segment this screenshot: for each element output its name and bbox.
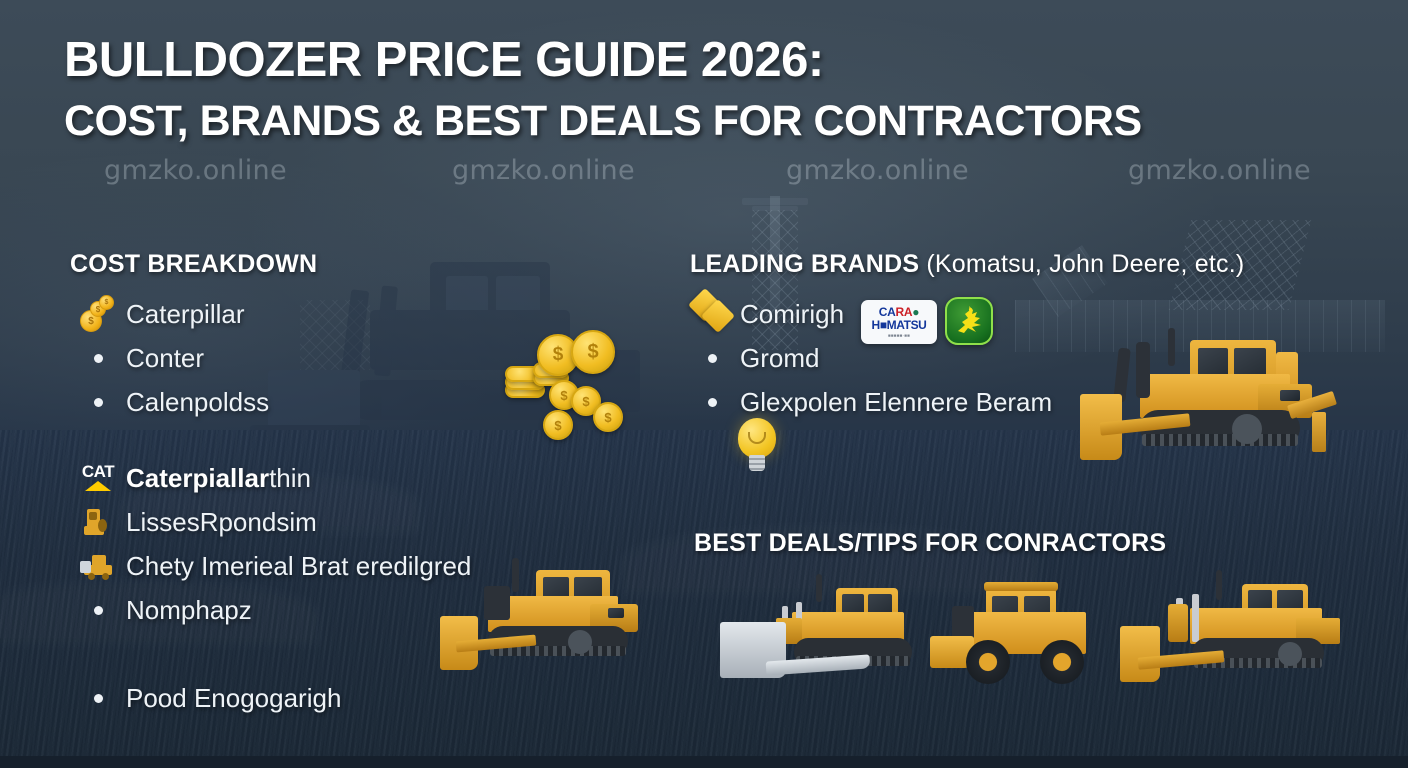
loader-yellow-icon — [70, 551, 126, 581]
watermark: gmzko.online — [104, 155, 287, 186]
lightbulb-icon — [735, 418, 779, 474]
list-item-label: Chety Imerieal Brat eredilgred — [126, 551, 471, 582]
list-item-label: Pood Enogogarigh — [126, 683, 341, 714]
bullet-dot-icon — [70, 398, 126, 407]
list-item-label: Conter — [126, 343, 204, 374]
watermark: gmzko.online — [786, 155, 969, 186]
list-item: Calenpoldss — [70, 380, 269, 424]
infographic-poster: gmzko.online gmzko.online gmzko.online g… — [0, 0, 1408, 768]
list-item: LissesRpondsim — [70, 500, 471, 544]
komatsu-logo-line2: H■MATSU — [872, 319, 927, 332]
watermark: gmzko.online — [1128, 155, 1311, 186]
list-item-label: LissesRpondsim — [126, 507, 317, 538]
john-deere-logo-icon — [945, 297, 993, 345]
bullet-dot-icon — [70, 354, 126, 363]
coin-symbol: $ — [571, 330, 615, 374]
dozer-front-left-image — [440, 558, 655, 676]
list-item: Conter — [70, 336, 269, 380]
wheel-loader-image — [930, 572, 1120, 684]
leading-brands-heading: LEADING BRANDS (Komatsu, John Deere, etc… — [690, 250, 1244, 279]
list-item-label: Nomphapz — [126, 595, 252, 626]
headline: BULLDOZER PRICE GUIDE 2026: COST, BRANDS… — [64, 36, 1184, 144]
headline-line-2: COST, BRANDS & BEST DEALS FOR CONTRACTOR… — [64, 100, 1184, 144]
bullet-dot-icon — [70, 606, 126, 615]
machine-yellow-icon — [70, 507, 126, 537]
coin-symbol: $ — [543, 410, 573, 440]
list-item: Pood Enogogarigh — [70, 676, 471, 720]
list-item-label: Gromd — [740, 343, 819, 374]
bullet-dot-icon — [70, 694, 126, 703]
bottom-bar — [0, 756, 1408, 768]
list-item: CAT Caterpiallar thin — [70, 456, 471, 500]
leading-brands-heading-light: (Komatsu, John Deere, etc.) — [919, 250, 1244, 278]
bullet-dot-icon — [684, 354, 740, 363]
list-item: $ $ $ Caterpillar — [70, 292, 269, 336]
komatsu-logo-line3: ■■■■■·■■ — [888, 333, 910, 338]
list-item-label: Caterpiallar — [126, 463, 269, 494]
list-item-label: Caterpillar — [126, 299, 245, 330]
coin-symbol: $ — [593, 402, 623, 432]
bullet-dot-icon — [684, 398, 740, 407]
gold-diamond-icon — [684, 291, 740, 337]
leading-brands-heading-strong: LEADING BRANDS — [690, 250, 919, 278]
cost-breakdown-heading: COST BREAKDOWN — [70, 250, 317, 279]
caterpillar-list: CAT Caterpiallar thin LissesRpondsim — [70, 456, 471, 720]
headline-line-1: BULLDOZER PRICE GUIDE 2026: — [64, 36, 1184, 86]
dozer-ripper-image — [1120, 570, 1345, 686]
list-item: Chety Imerieal Brat eredilgred — [70, 544, 471, 588]
list-item: Nomphapz — [70, 588, 471, 632]
list-item-label: Comirigh — [740, 299, 844, 330]
watermark: gmzko.online — [452, 155, 635, 186]
komatsu-logo-icon: CARA● H■MATSU ■■■■■·■■ — [861, 300, 937, 344]
cost-breakdown-list: $ $ $ Caterpillar Conter Calenpoldss — [70, 292, 269, 424]
watermark-row: gmzko.online gmzko.online gmzko.online g… — [0, 155, 1408, 195]
coin-stack-icon: $ $ $ — [70, 294, 126, 334]
hero-bulldozer-image — [1080, 322, 1345, 474]
best-deals-heading: BEST DEALS/TIPS FOR CONRACTORS — [694, 529, 1166, 558]
list-item-label: Calenpoldss — [126, 387, 269, 418]
list-item-label: Glexpolen Elennere Beram — [740, 387, 1052, 418]
dozer-gray-blade-image — [720, 572, 920, 682]
list-item-label-suffix: thin — [269, 463, 311, 494]
cat-logo-icon: CAT — [70, 463, 126, 493]
coin-pile-decoration: $ $ $ $ $ $ — [487, 330, 637, 450]
